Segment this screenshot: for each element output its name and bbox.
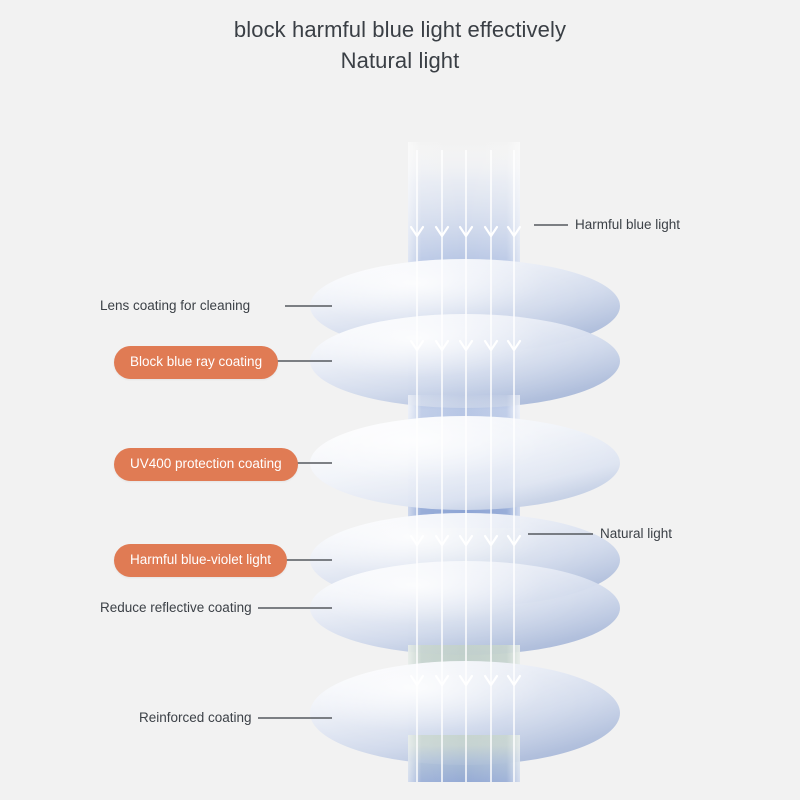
pill-harmful-blue-violet-light[interactable]: Harmful blue-violet light [114,544,287,577]
pill-uv400-protection-coating[interactable]: UV400 protection coating [114,448,298,481]
label-harmful-blue-light: Harmful blue light [575,218,680,232]
lens-disc-2 [310,314,620,408]
lens-disc-5 [310,561,620,655]
diagram-canvas: block harmful blue light effectively Nat… [0,0,800,800]
label-natural-light: Natural light [600,527,672,541]
pill-block-blue-ray-coating[interactable]: Block blue ray coating [114,346,278,379]
label-lens-coating-for-cleaning: Lens coating for cleaning [100,299,250,313]
lens-disc-3 [310,416,620,510]
beam-segment-tail [408,735,520,782]
label-reinforced-coating: Reinforced coating [139,711,252,725]
label-reduce-reflective-coating: Reduce reflective coating [100,601,252,615]
lens-stack-illustration [0,0,800,800]
